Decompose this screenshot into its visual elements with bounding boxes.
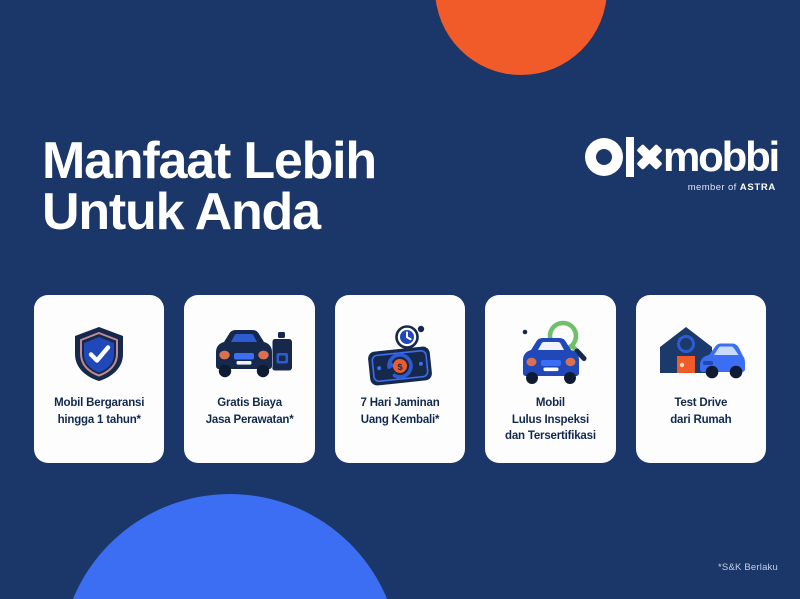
promo-poster: Manfaat Lebih Untuk Anda mobbi member of… [0, 0, 800, 599]
brand-logo: mobbi member of ASTRA [585, 134, 778, 193]
benefit-card-money-back[interactable]: $ 7 Hari Jaminan Uang Kembali* [335, 295, 465, 463]
benefit-card-free-service[interactable]: Gratis Biaya Jasa Perawatan* [184, 295, 314, 463]
benefit-card-inspection[interactable]: Mobil Lulus Inspeksi dan Tersertifikasi [485, 295, 615, 463]
benefit-card-list: Mobil Bergaransi hingga 1 tahun* [34, 295, 766, 463]
shield-check-icon [71, 317, 127, 391]
logo-tagline: member of ASTRA [585, 182, 778, 193]
logo-tagline-prefix: member of [688, 182, 740, 193]
logo-tagline-brand: ASTRA [740, 182, 776, 193]
page-title: Manfaat Lebih Untuk Anda [42, 136, 376, 239]
logo-letter-l-icon [626, 137, 634, 177]
logo-letter-o-icon [585, 138, 623, 176]
benefit-card-label: 7 Hari Jaminan Uang Kembali* [355, 395, 446, 428]
benefit-card-label: Mobil Lulus Inspeksi dan Tersertifikasi [499, 395, 602, 445]
car-inspection-icon [511, 317, 589, 391]
benefit-card-label: Gratis Biaya Jasa Perawatan* [200, 395, 300, 428]
svg-text:$: $ [397, 362, 403, 372]
benefit-card-test-drive[interactable]: Test Drive dari Rumah [636, 295, 766, 463]
benefit-card-warranty[interactable]: Mobil Bergaransi hingga 1 tahun* [34, 295, 164, 463]
money-back-icon: $ [359, 317, 441, 391]
orange-circle-decoration [435, 0, 607, 75]
car-service-oil-icon [208, 317, 292, 391]
logo-wordmark: mobbi [585, 134, 778, 180]
benefit-card-label: Test Drive dari Rumah [664, 395, 737, 428]
home-test-drive-icon [656, 317, 746, 391]
blue-circle-decoration [60, 494, 400, 599]
logo-letter-x-icon [636, 144, 662, 170]
logo-text-mobbi: mobbi [663, 137, 778, 177]
terms-footnote: *S&K Berlaku [718, 562, 778, 573]
benefit-card-label: Mobil Bergaransi hingga 1 tahun* [48, 395, 150, 428]
